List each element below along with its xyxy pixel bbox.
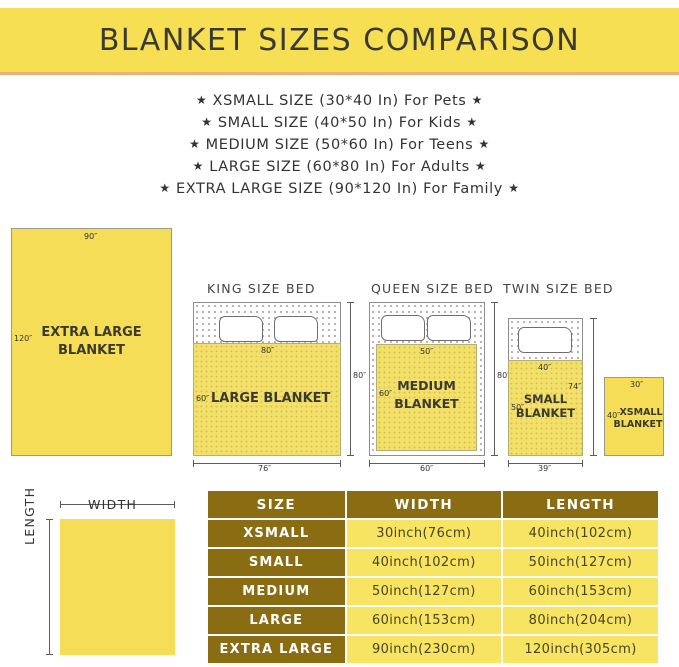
cell-width: 30inch(76cm) (347, 520, 501, 547)
list-item-label: EXTRA LARGE SIZE (90*120 In) For Family (176, 181, 503, 197)
star-icon: ★ (466, 115, 477, 129)
queen-bed-title: QUEEN SIZE BED (371, 281, 494, 296)
king-blanket-height-label: 60″ (196, 394, 209, 403)
cell-size: LARGE (208, 607, 345, 634)
queen-pillow-left (381, 315, 425, 341)
cell-width: 50inch(127cm) (347, 578, 501, 605)
king-bed-width-label: 76″ (258, 464, 271, 473)
table-row: MEDIUM 50inch(127cm) 60inch(153cm) (208, 578, 658, 605)
small-blanket-label-line1: SMALL (508, 392, 583, 406)
table-row: XSMALL 30inch(76cm) 40inch(102cm) (208, 520, 658, 547)
list-item: ★ SMALL SIZE (40*50 In) For Kids ★ (0, 112, 679, 134)
twin-bed-height-label: 74″ (568, 382, 581, 391)
king-bed-title: KING SIZE BED (207, 281, 316, 296)
large-blanket-label: LARGE BLANKET (211, 391, 341, 406)
star-icon: ★ (472, 93, 483, 107)
king-pillow-left (219, 316, 263, 342)
table-row: SMALL 40inch(102cm) 50inch(127cm) (208, 549, 658, 576)
queen-bed-height-dimline (494, 302, 495, 456)
star-icon: ★ (479, 137, 490, 151)
legend-blanket-shape (60, 519, 175, 655)
cell-size: XSMALL (208, 520, 345, 547)
star-icon: ★ (475, 159, 486, 173)
extra-large-blanket-shape (11, 228, 172, 456)
king-pillow-right (274, 316, 318, 342)
list-item-label: MEDIUM SIZE (50*60 In) For Teens (206, 137, 474, 153)
king-bed-height-dimline (350, 302, 351, 456)
table-header-row: SIZE WIDTH LENGTH (208, 491, 658, 518)
twin-bed-title: TWIN SIZE BED (503, 281, 614, 296)
cell-length: 40inch(102cm) (503, 520, 658, 547)
xsmall-width-label: 30″ (630, 380, 643, 389)
xsmall-blanket-label-line2: BLANKET (612, 419, 664, 430)
cell-length: 80inch(204cm) (503, 607, 658, 634)
star-icon: ★ (193, 159, 204, 173)
page-title: BLANKET SIZES COMPARISON (0, 8, 679, 72)
star-icon: ★ (189, 137, 200, 151)
infographic-canvas: BLANKET SIZES COMPARISON ★ XSMALL SIZE (… (0, 0, 679, 667)
legend-width-label: WIDTH (88, 497, 137, 512)
queen-bed-width-label: 60″ (420, 464, 433, 473)
star-icon: ★ (508, 181, 519, 195)
cell-length: 120inch(305cm) (503, 636, 658, 663)
king-blanket-width-label: 80″ (261, 346, 274, 355)
queen-pillow-right (427, 315, 471, 341)
legend-length-label: LENGTH (22, 487, 37, 545)
cell-width: 90inch(230cm) (347, 636, 501, 663)
column-header-length: LENGTH (503, 491, 658, 518)
list-item-label: SMALL SIZE (40*50 In) For Kids (218, 115, 461, 131)
list-item-label: XSMALL SIZE (30*40 In) For Pets (213, 93, 467, 109)
star-icon: ★ (196, 93, 207, 107)
cell-length: 50inch(127cm) (503, 549, 658, 576)
small-blanket-label-line2: BLANKET (508, 406, 583, 420)
xsmall-blanket-label-line1: XSMALL (618, 407, 664, 418)
cell-size: MEDIUM (208, 578, 345, 605)
legend-length-dimline (49, 519, 50, 655)
twin-bed-height-dimline (593, 318, 594, 456)
column-header-size: SIZE (208, 491, 345, 518)
extra-large-width-label: 90″ (84, 232, 97, 241)
cell-size: SMALL (208, 549, 345, 576)
medium-blanket-label-line2: BLANKET (376, 396, 477, 411)
size-summary-list: ★ XSMALL SIZE (30*40 In) For Pets ★ ★ SM… (0, 90, 679, 200)
cell-length: 60inch(153cm) (503, 578, 658, 605)
cell-width: 40inch(102cm) (347, 549, 501, 576)
list-item: ★ XSMALL SIZE (30*40 In) For Pets ★ (0, 90, 679, 112)
star-icon: ★ (159, 181, 170, 195)
list-item: ★ EXTRA LARGE SIZE (90*120 In) For Famil… (0, 178, 679, 200)
list-item: ★ MEDIUM SIZE (50*60 In) For Teens ★ (0, 134, 679, 156)
cell-size: EXTRA LARGE (208, 636, 345, 663)
table-row: EXTRA LARGE 90inch(230cm) 120inch(305cm) (208, 636, 658, 663)
extra-large-blanket-label-line2: BLANKET (11, 343, 172, 358)
list-item-label: LARGE SIZE (60*80 In) For Adults (209, 159, 470, 175)
cell-width: 60inch(153cm) (347, 607, 501, 634)
star-icon: ★ (201, 115, 212, 129)
header-banner: BLANKET SIZES COMPARISON (0, 8, 679, 75)
twin-bed-width-label: 39″ (538, 464, 551, 473)
size-chart-table: SIZE WIDTH LENGTH XSMALL 30inch(76cm) 40… (206, 489, 660, 665)
king-bed-height-label: 80″ (353, 371, 366, 380)
twin-pillow (518, 327, 572, 353)
list-item: ★ LARGE SIZE (60*80 In) For Adults ★ (0, 156, 679, 178)
extra-large-blanket-label-line1: EXTRA LARGE (11, 325, 172, 340)
column-header-width: WIDTH (347, 491, 501, 518)
table-row: LARGE 60inch(153cm) 80inch(204cm) (208, 607, 658, 634)
queen-blanket-width-label: 50″ (420, 347, 433, 356)
twin-blanket-width-label: 40″ (538, 363, 551, 372)
medium-blanket-label-line1: MEDIUM (376, 378, 477, 393)
